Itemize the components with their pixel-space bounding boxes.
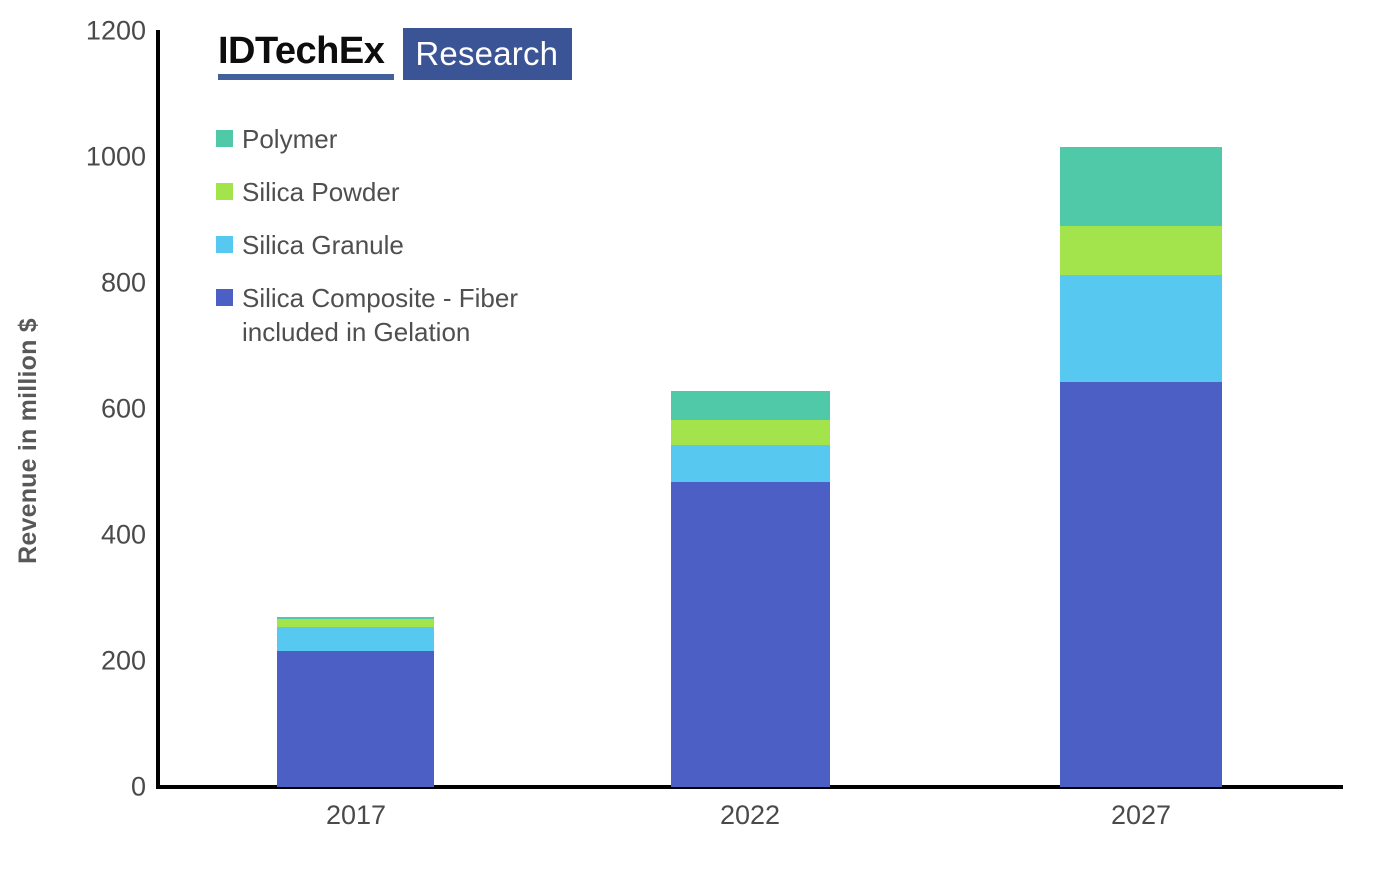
bar-segment[interactable] <box>671 482 830 787</box>
legend-label-silica-powder: Silica Powder <box>242 175 400 209</box>
bar-segment[interactable] <box>671 391 830 420</box>
legend-swatch-icon-silica-composite <box>216 289 233 306</box>
legend-label-polymer: Polymer <box>242 122 337 156</box>
y-tick-label-600: 600 <box>26 394 146 425</box>
legend-label-silica-granule: Silica Granule <box>242 228 404 262</box>
bar-segment[interactable] <box>277 651 434 787</box>
legend-item-silica-composite[interactable]: Silica Composite - Fiber included in Gel… <box>216 281 636 349</box>
x-tick-label-2017: 2017 <box>326 800 386 831</box>
y-tick-label-400: 400 <box>26 520 146 551</box>
bar-segment[interactable] <box>1060 275 1222 382</box>
legend-label-silica-composite: Silica Composite - Fiber included in Gel… <box>242 281 518 349</box>
bar-segment[interactable] <box>1060 226 1222 275</box>
x-tick-label-2027: 2027 <box>1111 800 1171 831</box>
legend-swatch-icon-silica-granule <box>216 236 233 253</box>
y-axis-title: Revenue in million $ <box>0 0 56 882</box>
x-tick-label-2022: 2022 <box>720 800 780 831</box>
legend-item-silica-granule[interactable]: Silica Granule <box>216 228 636 262</box>
legend: Polymer Silica Powder Silica Granule Sil… <box>216 122 636 368</box>
legend-swatch-icon-polymer <box>216 130 233 147</box>
bar-segment[interactable] <box>671 445 830 482</box>
legend-item-polymer[interactable]: Polymer <box>216 122 636 156</box>
bar-segment[interactable] <box>1060 147 1222 226</box>
legend-item-silica-powder[interactable]: Silica Powder <box>216 175 636 209</box>
bar-segment[interactable] <box>277 627 434 652</box>
stacked-bar-chart: IDTechEx Research Revenue in million $ 0… <box>0 0 1384 882</box>
y-tick-label-200: 200 <box>26 646 146 677</box>
bar-segment[interactable] <box>277 619 434 627</box>
bar-segment[interactable] <box>671 420 830 445</box>
y-tick-label-0: 0 <box>26 772 146 803</box>
y-tick-label-800: 800 <box>26 268 146 299</box>
bar-segment[interactable] <box>277 617 434 619</box>
bar-segment[interactable] <box>1060 382 1222 787</box>
y-tick-label-1000: 1000 <box>26 142 146 173</box>
y-tick-label-1200: 1200 <box>26 16 146 47</box>
legend-swatch-icon-silica-powder <box>216 183 233 200</box>
